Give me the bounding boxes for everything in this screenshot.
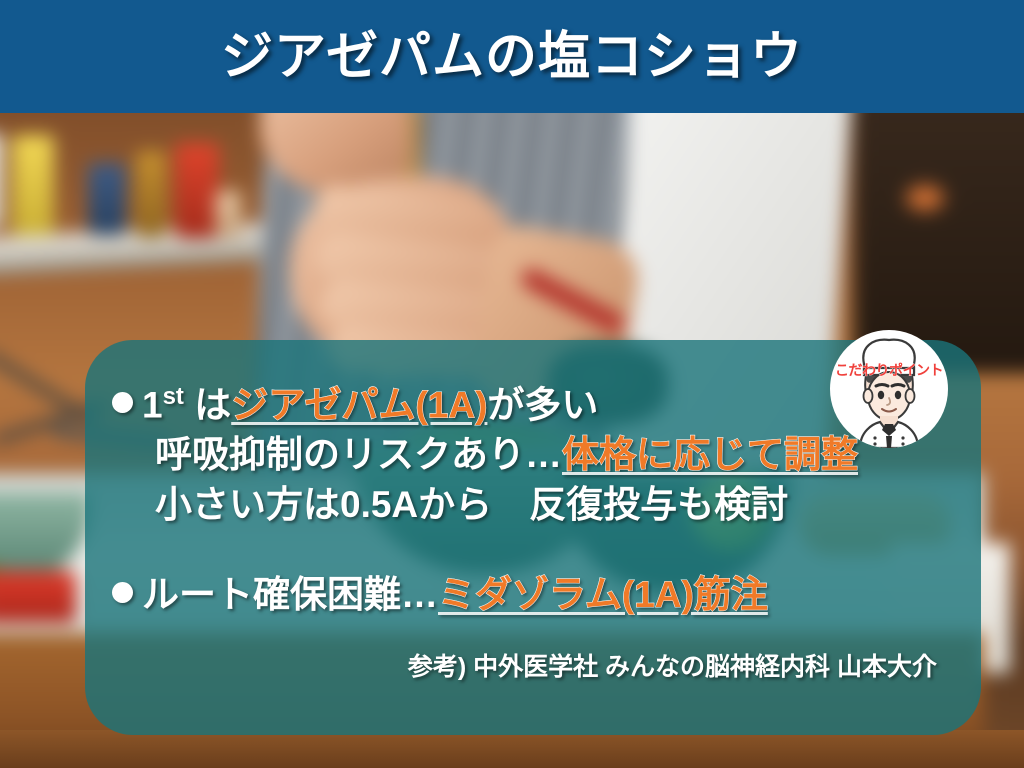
bullet-text-plain: 1 (142, 384, 163, 425)
bottom-wood-strip (0, 730, 1024, 768)
page-title: ジアゼパムの塩コショウ (221, 31, 803, 83)
bullet-line: 小さい方は0.5Aから 反復投与も検討 (112, 480, 972, 530)
bullet-text-plain: ルート確保困難… (142, 574, 438, 615)
badge-label: こだわりポイント (830, 360, 948, 380)
red-jar (0, 571, 76, 623)
bullet-text-highlight: 体格に応じて調整 (562, 434, 858, 475)
bullet-text-highlight: ミダゾラム(1A)筋注 (438, 574, 768, 615)
chef-avatar-icon (830, 330, 948, 448)
bullet-text-plain: 呼吸抑制のリスクあり… (155, 434, 562, 475)
shelf-jar (88, 163, 126, 235)
cabinet-light (906, 185, 944, 211)
kodawari-point-badge: こだわりポイント (830, 330, 948, 448)
shelf-jar (136, 151, 166, 237)
bullet-line: ルート確保困難…ミダゾラム(1A)筋注 (112, 570, 972, 620)
bullet-dot-icon (112, 392, 133, 413)
reference-note: 参考) 中外医学社 みんなの脳神経内科 山本大介 (408, 647, 937, 683)
bullet-text-superscript: st (163, 383, 184, 410)
bullet-text-highlight: ジアゼパム(1A) (231, 384, 487, 425)
bullet-text-plain: は (184, 384, 231, 425)
shelf-jar (12, 135, 54, 235)
badge-circle (830, 330, 948, 448)
list-item: ルート確保困難…ミダゾラム(1A)筋注 (112, 570, 972, 620)
shelf-jar (215, 191, 241, 237)
slide-root: ジアゼパムの塩コショウ 1st はジアゼパム(1A)が多い 呼吸抑制のリスクあり… (0, 0, 1024, 768)
bullet-text-plain: 小さい方は0.5Aから 反復投与も検討 (155, 484, 788, 525)
bullet-dot-icon (112, 582, 133, 603)
bullet-text-plain: が多い (487, 384, 598, 425)
header-bar: ジアゼパムの塩コショウ (0, 0, 1024, 113)
shelf-jar (0, 133, 2, 228)
shelf-jar (175, 143, 219, 238)
